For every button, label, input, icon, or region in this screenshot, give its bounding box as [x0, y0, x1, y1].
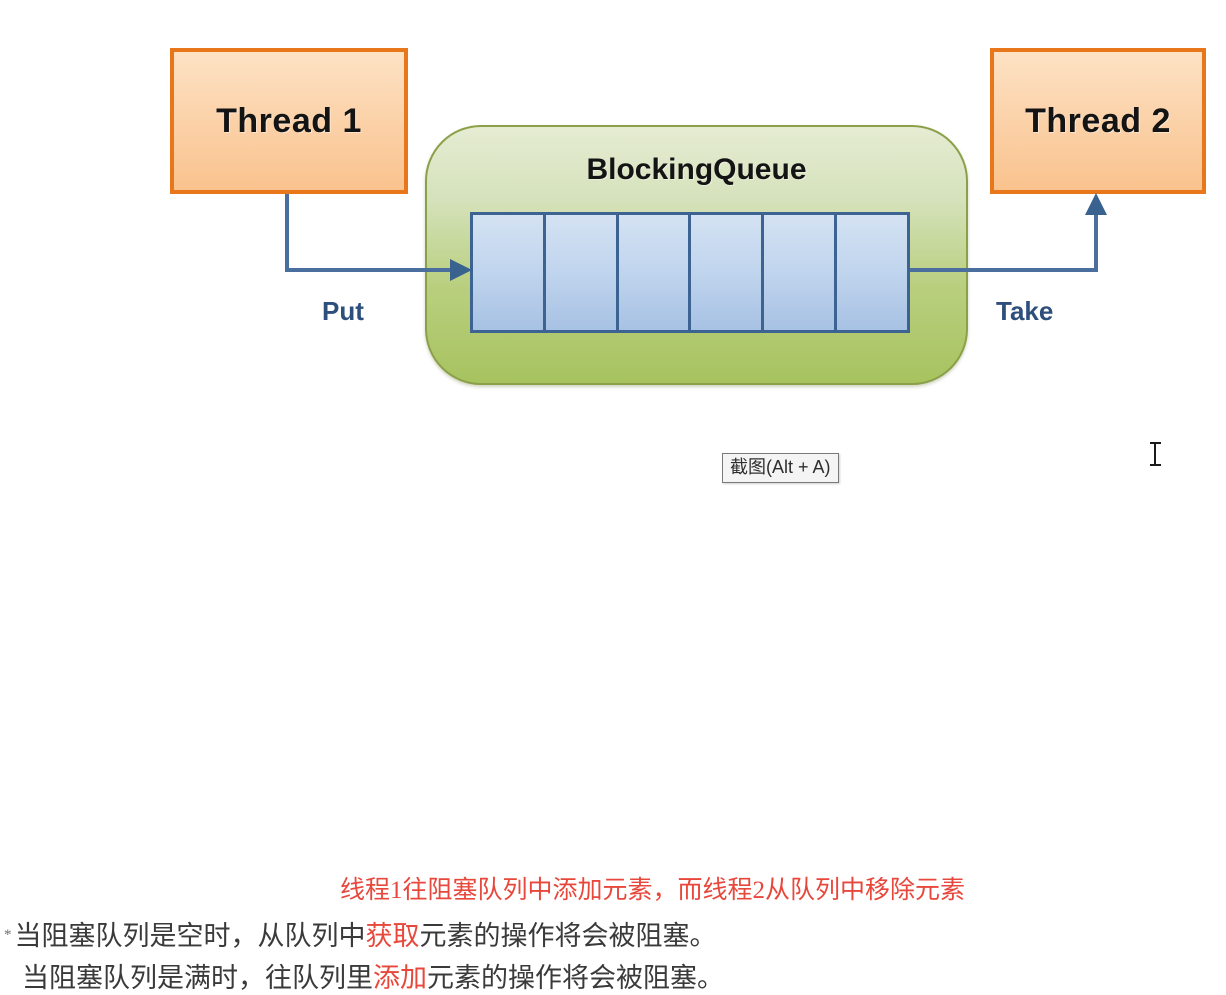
queue-cell	[619, 215, 692, 330]
caption-line-3-highlight: 添加	[373, 963, 427, 993]
queue-cell	[691, 215, 764, 330]
put-label: Put	[322, 296, 364, 327]
caption-line-2-part1: 当阻塞队列是空时，从队列中	[15, 921, 366, 951]
blocking-queue-diagram: Thread 1 Thread 2 BlockingQueue Put Take	[0, 0, 1226, 420]
screenshot-shortcut-tooltip: 截图(Alt + A)	[722, 453, 839, 483]
caption-line-1-text: 线程1往阻塞队列中添加元素，而线程2从队列中移除元素	[340, 877, 965, 904]
ibeam-stem	[1154, 444, 1156, 464]
blocking-queue-title: BlockingQueue	[427, 153, 966, 187]
caption-line-3: 当阻塞队列是满时，往队列里添加元素的操作将会被阻塞。	[22, 956, 724, 995]
caption-line-3-part1: 当阻塞队列是满时，往队列里	[22, 963, 373, 993]
take-connector-vertical	[1094, 205, 1098, 272]
queue-cell	[837, 215, 907, 330]
put-arrowhead-icon	[450, 259, 472, 281]
text-ibeam-cursor-icon	[1150, 442, 1161, 466]
queue-cell	[764, 215, 837, 330]
thread-2-box: Thread 2	[990, 48, 1206, 194]
ibeam-cap-bottom	[1150, 464, 1161, 466]
queue-cell	[473, 215, 546, 330]
take-arrowhead-icon	[1085, 193, 1107, 215]
thread-1-box: Thread 1	[170, 48, 408, 194]
caption-line-2-highlight: 获取	[366, 921, 420, 951]
screenshot-stage: Thread 1 Thread 2 BlockingQueue Put Take	[0, 0, 1226, 585]
caption-line-2-part2: 元素的操作将会被阻塞。	[420, 921, 717, 951]
thread-1-label: Thread 1	[216, 102, 362, 141]
caption-line-3-part2: 元素的操作将会被阻塞。	[427, 963, 724, 993]
take-label: Take	[996, 296, 1053, 327]
put-connector-horizontal	[285, 268, 457, 272]
caption-line-2: *当阻塞队列是空时，从队列中获取元素的操作将会被阻塞。	[4, 914, 717, 953]
queue-cell-strip	[470, 212, 910, 333]
thread-2-label: Thread 2	[1025, 102, 1171, 141]
put-connector-vertical	[285, 194, 289, 272]
caption-bullet-icon: *	[4, 927, 12, 943]
queue-cell	[546, 215, 619, 330]
caption-line-1: 线程1往阻塞队列中添加元素，而线程2从队列中移除元素	[340, 870, 965, 906]
caption-block: 线程1往阻塞队列中添加元素，而线程2从队列中移除元素 *当阻塞队列是空时，从队列…	[0, 420, 1226, 585]
take-connector-horizontal	[910, 268, 1098, 272]
